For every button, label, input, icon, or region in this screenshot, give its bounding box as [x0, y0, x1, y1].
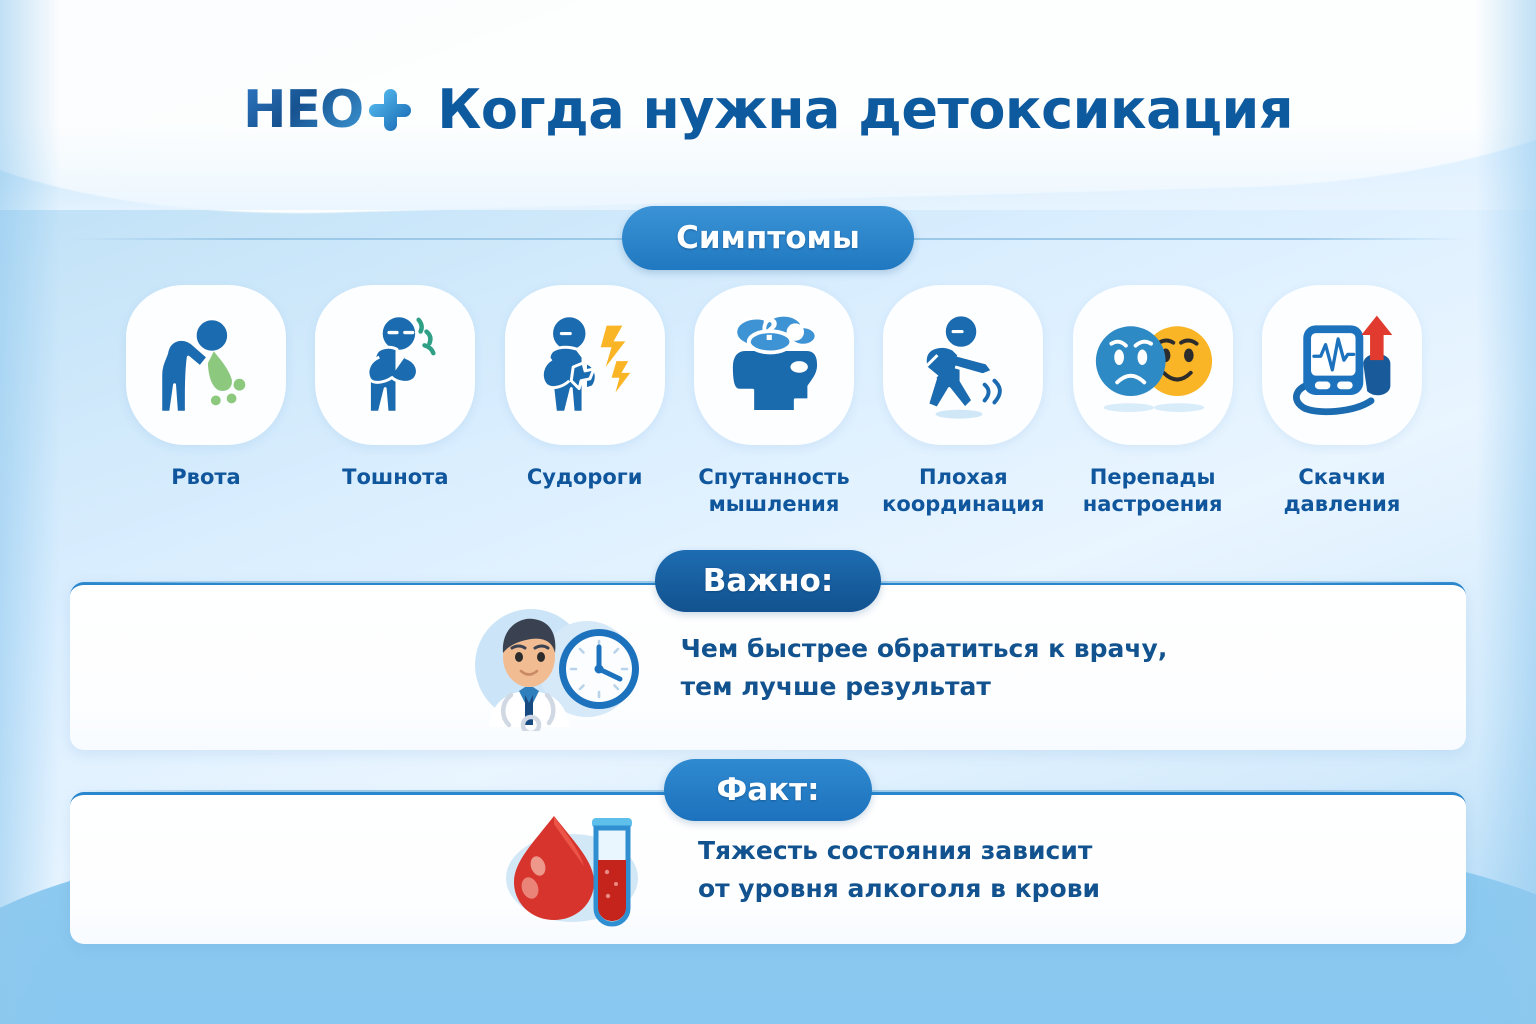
symptom-label-line1: Перепады [1090, 465, 1216, 489]
symptom-card [505, 285, 665, 445]
symptom-card [315, 285, 475, 445]
symptom-label: Плохая координация [875, 464, 1051, 517]
background-right-edge [1476, 0, 1536, 1024]
symptom-label-line2: координация [882, 492, 1044, 516]
mood-swings-faces-icon [1092, 309, 1214, 421]
plus-icon [369, 89, 411, 131]
symptom-label: Скачки давления [1254, 464, 1430, 517]
symptom-item-coordination[interactable]: Плохая координация [875, 285, 1051, 517]
background-left-edge [0, 0, 60, 1024]
symptom-item-confusion[interactable]: ? Спутанность мышления [686, 285, 862, 517]
symptom-label-line1: Спутанность [698, 465, 849, 489]
poor-coordination-icon [904, 306, 1022, 424]
cramps-person-icon [526, 306, 644, 424]
doctor-with-clock-illustration [459, 599, 655, 736]
symptom-card [126, 285, 286, 445]
brand-logo: НЕО [243, 80, 411, 140]
important-text-line2: тем лучше результат [681, 668, 1168, 706]
symptom-label: Судороги [527, 464, 643, 491]
symptom-item-mood-swings[interactable]: Перепады настроения [1065, 285, 1241, 517]
page-title: Когда нужна детоксикация [437, 78, 1293, 141]
symptom-label-line2: настроения [1083, 492, 1223, 516]
brand-logo-text: НЕО [243, 80, 363, 140]
vomiting-person-icon [147, 306, 265, 424]
fact-text-line2: от уровня алкоголя в крови [698, 870, 1100, 908]
symptom-label-line2: мышления [709, 492, 840, 516]
symptom-label-line1: Тошнота [342, 465, 448, 489]
symptom-card [1262, 285, 1422, 445]
symptom-label-line1: Плохая [919, 465, 1008, 489]
symptom-label-line1: Рвота [171, 465, 240, 489]
nausea-person-icon [336, 306, 454, 424]
blood-drop-test-tube-illustration [496, 804, 672, 935]
symptom-label-line1: Скачки [1298, 465, 1385, 489]
important-text-line1: Чем быстрее обратиться к врачу, [681, 634, 1168, 663]
fact-badge: Факт: [664, 759, 871, 821]
symptom-card [883, 285, 1043, 445]
important-badge: Важно: [655, 550, 882, 612]
symptom-label: Тошнота [342, 464, 448, 491]
symptom-item-nausea[interactable]: Тошнота [307, 285, 483, 517]
fact-text-line1: Тяжесть состояния зависит [698, 836, 1092, 865]
blood-pressure-monitor-icon [1282, 307, 1402, 423]
fact-section-header: Факт: [70, 762, 1466, 818]
symptom-card [1073, 285, 1233, 445]
symptom-label: Перепады настроения [1065, 464, 1241, 517]
symptoms-section-header: Симптомы [70, 212, 1466, 264]
important-text: Чем быстрее обратиться к врачу, тем лучш… [681, 630, 1168, 706]
symptom-label-line2: давления [1284, 492, 1401, 516]
symptom-label: Рвота [171, 464, 240, 491]
important-section-header: Важно: [70, 552, 1466, 610]
symptom-card: ? [694, 285, 854, 445]
svg-text:?: ? [762, 313, 779, 347]
symptoms-badge: Симптомы [622, 206, 914, 270]
symptom-label-line1: Судороги [527, 465, 643, 489]
symptom-item-blood-pressure[interactable]: Скачки давления [1254, 285, 1430, 517]
page-header: НЕО Когда нужна детоксикация [0, 78, 1536, 141]
symptom-label: Спутанность мышления [686, 464, 862, 517]
symptom-item-vomiting[interactable]: Рвота [118, 285, 294, 517]
symptoms-grid: Рвота [118, 285, 1430, 517]
symptom-item-cramps[interactable]: Судороги [497, 285, 673, 517]
fact-text: Тяжесть состояния зависит от уровня алко… [698, 832, 1100, 908]
confused-head-icon: ? [714, 306, 834, 424]
